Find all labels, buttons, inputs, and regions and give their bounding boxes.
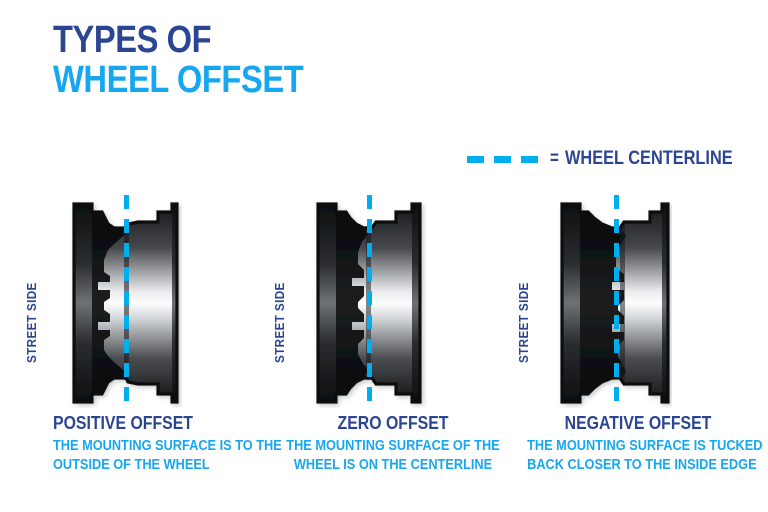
street-side-label-negative: STREET SIDE	[516, 246, 531, 363]
wheel-cross-section-positive-offset	[64, 198, 182, 408]
caption-desc-line: WHEEL IS ON THE CENTERLINE	[283, 456, 503, 475]
caption-positive: POSITIVE OFFSET THE MOUNTING SURFACE IS …	[22, 413, 272, 475]
caption-desc-line: BACK CLOSER TO THE INSIDE EDGE	[527, 456, 749, 475]
caption-desc-zero: THE MOUNTING SURFACE OF THE WHEEL IS ON …	[283, 437, 503, 475]
caption-zero: ZERO OFFSET THE MOUNTING SURFACE OF THE …	[268, 413, 518, 475]
caption-title-negative: NEGATIVE OFFSET	[527, 413, 749, 433]
caption-desc-line: THE MOUNTING SURFACE IS TUCKED	[527, 437, 749, 456]
caption-title-positive: POSITIVE OFFSET	[53, 413, 246, 433]
mounting-surface	[124, 226, 129, 380]
wheel-outer-flange	[562, 204, 580, 402]
wheel-diagram-svg	[310, 198, 428, 408]
caption-desc-line: THE MOUNTING SURFACE IS TO THE	[53, 437, 246, 456]
wheel-cross-section-negative-offset	[554, 198, 672, 408]
wheel-cross-section-zero-offset	[310, 198, 428, 408]
street-side-label-zero: STREET SIDE	[272, 246, 287, 363]
mounting-surface	[366, 226, 371, 380]
legend-equals-sign: =	[550, 148, 559, 170]
caption-desc-line: OUTSIDE OF THE WHEEL	[53, 456, 246, 475]
wheel-outer-flange	[318, 204, 336, 402]
page-title: TYPES OF WHEEL OFFSET	[53, 22, 344, 98]
legend-dash-icon	[467, 156, 484, 163]
caption-desc-negative: THE MOUNTING SURFACE IS TUCKED BACK CLOS…	[527, 437, 749, 475]
infographic-canvas: TYPES OF WHEEL OFFSET = WHEEL CENTERLINE…	[0, 0, 768, 512]
legend-dash-icon	[494, 156, 511, 163]
legend-dash-icon	[521, 156, 538, 163]
caption-desc-positive: THE MOUNTING SURFACE IS TO THE OUTSIDE O…	[53, 437, 246, 475]
mounting-surface	[620, 226, 625, 380]
legend: = WHEEL CENTERLINE	[467, 148, 760, 170]
street-side-label-positive: STREET SIDE	[24, 246, 39, 363]
caption-title-zero: ZERO OFFSET	[283, 413, 503, 433]
legend-dash-swatch	[467, 156, 548, 163]
wheel-outer-flange	[74, 204, 92, 402]
caption-negative: NEGATIVE OFFSET THE MOUNTING SURFACE IS …	[512, 413, 764, 475]
title-line-primary: TYPES OF	[53, 22, 303, 58]
title-line-secondary: WHEEL OFFSET	[53, 62, 303, 98]
legend-label: WHEEL CENTERLINE	[565, 148, 733, 170]
caption-desc-line: THE MOUNTING SURFACE OF THE	[283, 437, 503, 456]
wheel-diagram-svg	[554, 198, 672, 408]
wheel-diagram-svg	[64, 198, 182, 408]
wheel-hub-profile	[580, 212, 626, 394]
